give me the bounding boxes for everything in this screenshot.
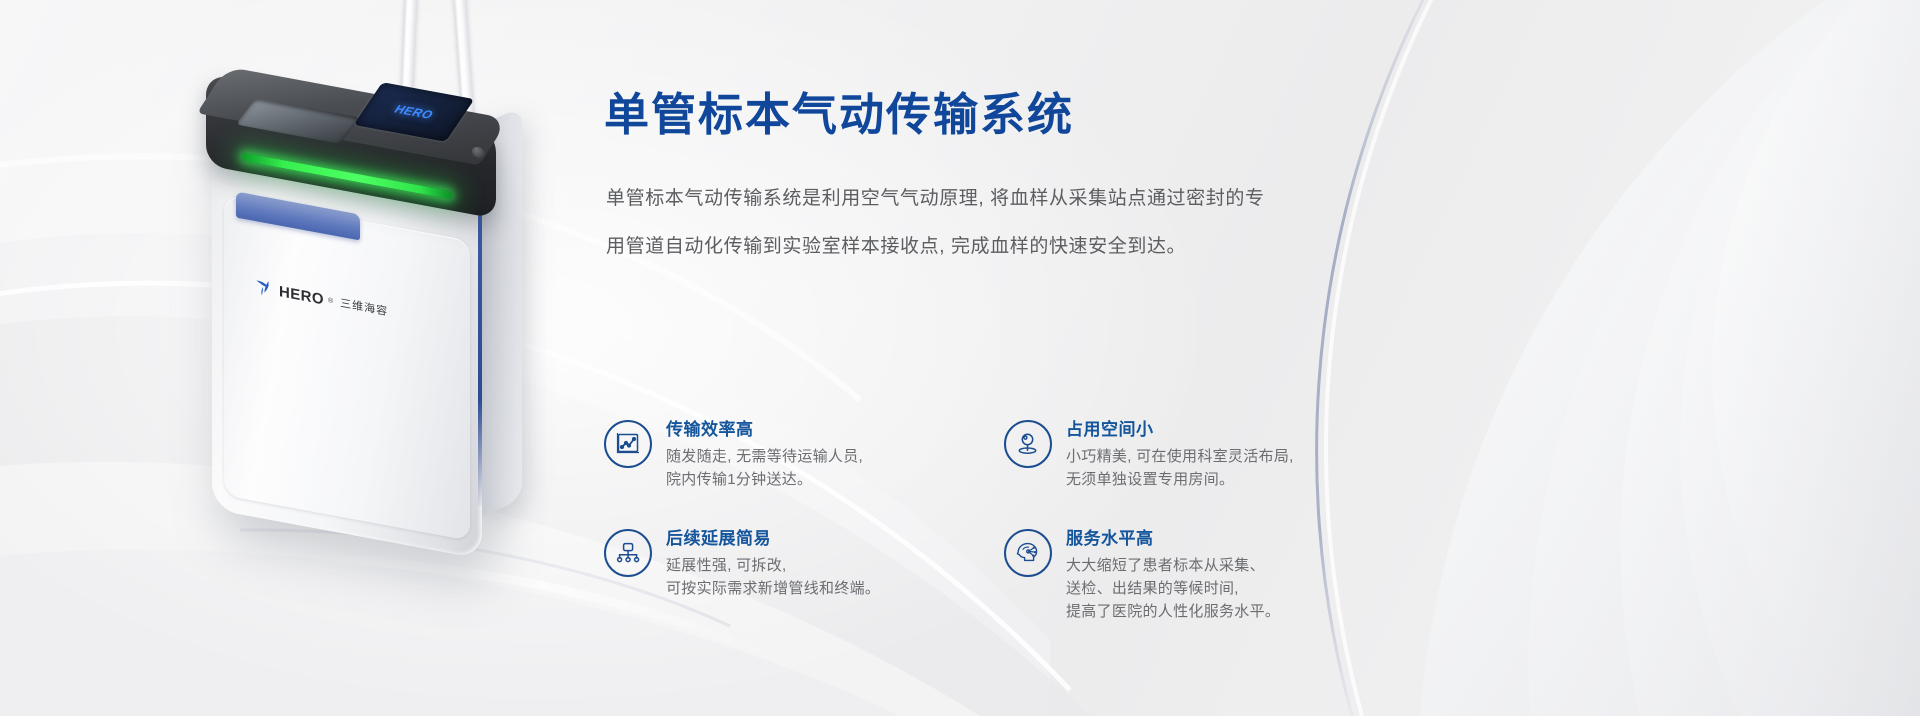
- page-description: 单管标本气动传输系统是利用空气气动原理, 将血样从采集站点通过密封的专用管道自动…: [606, 175, 1266, 271]
- feature-description: 大大缩短了患者标本从采集、 送检、出结果的等候时间, 提高了医院的人性化服务水平…: [1066, 554, 1280, 623]
- feature-item-easy-extension[interactable]: 后续延展简易 延展性强, 可拆改, 可按实际需求新增管线和终端。: [604, 527, 1004, 623]
- page-title: 单管标本气动传输系统: [604, 88, 1074, 142]
- feature-description: 小巧精美, 可在使用科室灵活布局, 无须单独设置专用房间。: [1066, 445, 1294, 491]
- feature-item-service-level[interactable]: 服务水平高 大大缩短了患者标本从采集、 送检、出结果的等候时间, 提高了医院的人…: [1004, 527, 1364, 623]
- device-front-panel: [224, 195, 470, 541]
- feature-item-transmission-efficiency[interactable]: 传输效率高 随发随走, 无需等待运输人员, 院内传输1分钟送达。: [604, 418, 1004, 491]
- feature-row-1: 传输效率高 随发随走, 无需等待运输人员, 院内传输1分钟送达。 占用空间小 小…: [604, 418, 1364, 491]
- feature-text: 传输效率高 随发随走, 无需等待运输人员, 院内传输1分钟送达。: [666, 418, 863, 491]
- ai-head-icon: [1004, 529, 1052, 577]
- network-hierarchy-icon: [604, 529, 652, 577]
- feature-text: 服务水平高 大大缩短了患者标本从采集、 送检、出结果的等候时间, 提高了医院的人…: [1066, 527, 1280, 623]
- brand-registered-mark: ®: [328, 297, 333, 305]
- feature-title: 服务水平高: [1066, 528, 1280, 551]
- feature-list: 传输效率高 随发随走, 无需等待运输人员, 院内传输1分钟送达。 占用空间小 小…: [604, 418, 1364, 623]
- feature-title: 后续延展简易: [666, 528, 880, 551]
- location-pin-icon: [1004, 420, 1052, 468]
- feature-item-small-footprint[interactable]: 占用空间小 小巧精美, 可在使用科室灵活布局, 无须单独设置专用房间。: [1004, 418, 1364, 491]
- device-screen-logo: HERO: [391, 102, 436, 121]
- feature-title: 占用空间小: [1066, 419, 1294, 442]
- hero-content: 单管标本气动传输系统 单管标本气动传输系统是利用空气气动原理, 将血样从采集站点…: [604, 0, 1364, 716]
- pneumatic-tube-device-image: HERO HERO ® 三维海容: [150, 0, 610, 690]
- feature-row-2: 后续延展简易 延展性强, 可拆改, 可按实际需求新增管线和终端。: [604, 527, 1364, 623]
- chart-line-icon: [604, 420, 652, 468]
- feature-text: 后续延展简易 延展性强, 可拆改, 可按实际需求新增管线和终端。: [666, 527, 880, 600]
- feature-title: 传输效率高: [666, 419, 863, 442]
- feature-description: 延展性强, 可拆改, 可按实际需求新增管线和终端。: [666, 554, 880, 600]
- feature-description: 随发随走, 无需等待运输人员, 院内传输1分钟送达。: [666, 445, 863, 491]
- hero-wing-mark-icon: [255, 278, 275, 300]
- feature-text: 占用空间小 小巧精美, 可在使用科室灵活布局, 无须单独设置专用房间。: [1066, 418, 1294, 491]
